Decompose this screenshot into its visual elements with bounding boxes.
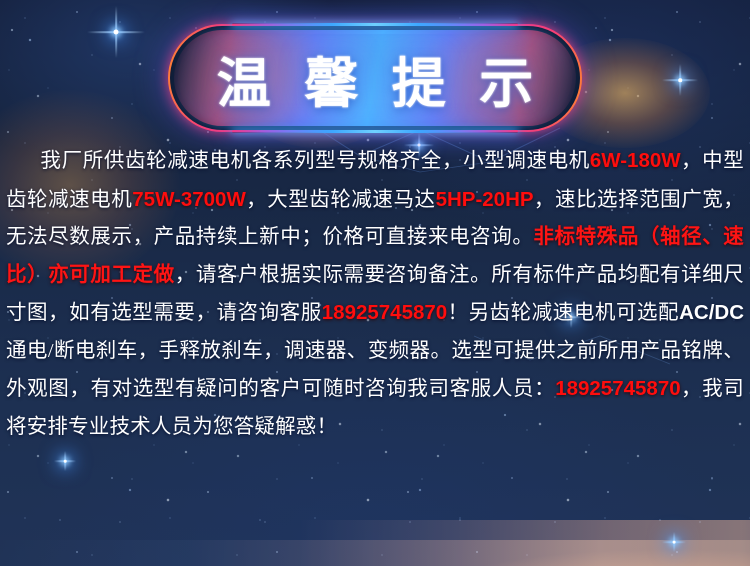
sparkle-ray-horizontal bbox=[662, 541, 686, 543]
promo-paragraph: 我厂所供齿轮减速电机各系列型号规格齐全，小型调速电机6W-180W，中型齿轮减速… bbox=[6, 142, 744, 446]
highlight-number-run: 18925745870 bbox=[322, 301, 447, 324]
sparkle-star-icon bbox=[660, 528, 688, 556]
warm-glow-bottom-band bbox=[300, 520, 750, 566]
sparkle-ray-vertical bbox=[673, 532, 675, 552]
sparkle-core bbox=[678, 78, 682, 82]
sparkle-ray-horizontal bbox=[87, 31, 145, 33]
sparkle-core bbox=[673, 541, 676, 544]
promo-poster: 温 馨 提 示 我厂所供齿轮减速电机各系列型号规格齐全，小型调速电机6W-180… bbox=[0, 0, 750, 566]
sparkle-ray-horizontal bbox=[662, 79, 698, 81]
sparkle-ray-vertical bbox=[64, 451, 66, 471]
text-run: 我厂所供齿轮减速电机各系列型号规格齐全，小型调速电机 bbox=[40, 150, 590, 172]
neon-banner: 温 馨 提 示 bbox=[168, 24, 582, 132]
banner-title: 温 馨 提 示 bbox=[168, 24, 582, 132]
paragraph-runs: 我厂所供齿轮减速电机各系列型号规格齐全，小型调速电机6W-180W，中型齿轮减速… bbox=[6, 150, 744, 438]
sparkle-core bbox=[114, 30, 119, 35]
highlight-number-run: 18925745870 bbox=[555, 377, 680, 400]
sparkle-star-icon bbox=[86, 2, 146, 62]
sparkle-star-icon bbox=[52, 448, 78, 474]
text-run: ！另齿轮减速电机可选配 bbox=[447, 302, 679, 324]
promo-body-text: 我厂所供齿轮减速电机各系列型号规格齐全，小型调速电机6W-180W，中型齿轮减速… bbox=[0, 142, 750, 446]
warm-glow-bottom-edge bbox=[0, 540, 750, 566]
sparkle-ray-vertical bbox=[115, 6, 117, 58]
highlight-number-run: 5HP-20HP bbox=[436, 188, 534, 211]
sparkle-core bbox=[64, 460, 67, 463]
highlight-number-run: 6W-180W bbox=[590, 149, 681, 172]
highlight-number-run: 75W-3700W bbox=[132, 188, 246, 211]
text-run: ，大型齿轮减速马达 bbox=[246, 189, 436, 211]
sparkle-ray-vertical bbox=[679, 64, 681, 96]
spec-number-run: AC/DC bbox=[679, 301, 744, 324]
sparkle-star-icon bbox=[660, 60, 700, 100]
sparkle-ray-horizontal bbox=[54, 460, 76, 462]
